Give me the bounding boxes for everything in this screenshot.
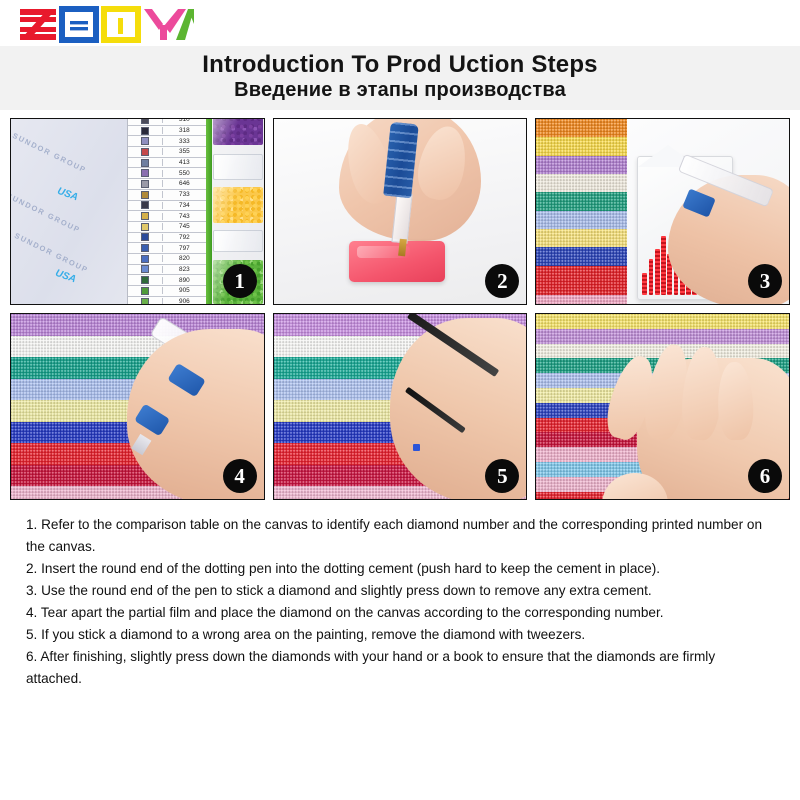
green-divider-strip [206,119,213,304]
symbol-swatch [128,211,162,221]
chart-number: 646 [162,180,205,187]
symbol-swatch [128,222,162,232]
chart-number: 743 [162,213,205,220]
watermark: SUNDOR GROUP [11,131,88,175]
chart-row: 333 [128,136,205,147]
chart-row: 310 [128,119,205,126]
symbol-swatch [128,286,162,296]
symbol-swatch [128,243,162,253]
chart-number: 792 [162,234,205,241]
step-panel-5: 5 [273,313,528,500]
chart-row: 318 [128,126,205,137]
step-panel-3: 3 [535,118,790,305]
striped-diamond-canvas [536,119,627,304]
step-badge-3: 3 [748,264,782,298]
zooya-logo [18,6,800,44]
dotting-cement-pad [349,241,445,282]
symbol-swatch [128,136,162,146]
symbol-swatch [128,265,162,275]
dotting-pen-metal-tip [398,239,406,256]
bead-bag-purple [213,119,262,145]
chart-row: 820 [128,254,205,265]
chart-number: 745 [162,223,205,230]
chart-row: 797 [128,243,205,254]
watermark: SUNDOR GROUP [13,231,90,275]
symbol-swatch [128,168,162,178]
instruction-step-5: 5. If you stick a diamond to a wrong are… [26,624,774,646]
step-panel-1: SUNDOR GROUP SUNDOR GROUP SUNDOR GROUP U… [10,118,265,305]
chart-number: 310 [162,119,205,123]
chart-number: 550 [162,170,205,177]
canvas-paper: SUNDOR GROUP SUNDOR GROUP SUNDOR GROUP U… [11,119,127,304]
chart-row: 743 [128,211,205,222]
zooya-logo-svg [18,6,194,44]
logo-letter-o-blue [62,9,96,40]
bead-bag-yellow [213,187,262,222]
chart-number: 355 [162,148,205,155]
chart-number: 413 [162,159,205,166]
symbol-swatch [128,254,162,264]
usa-mark: USA [54,268,78,286]
logo-bar [0,0,800,46]
step-panel-6: 6 [535,313,790,500]
steps-grid: SUNDOR GROUP SUNDOR GROUP SUNDOR GROUP U… [10,118,790,500]
instruction-step-4: 4. Tear apart the partial film and place… [26,602,774,624]
picked-diamond [413,444,421,451]
symbol-swatch [128,201,162,211]
chart-row: 905 [128,286,205,297]
logo-letter-o-yellow [104,9,138,40]
symbol-swatch [128,297,162,304]
chart-number: 333 [162,138,205,145]
step-badge-4: 4 [223,459,257,493]
chart-number: 734 [162,202,205,209]
symbol-swatch [128,190,162,200]
chart-number: 820 [162,255,205,262]
chart-row: 646 [128,179,205,190]
instructions-list: 1. Refer to the comparison table on the … [26,514,774,690]
symbol-swatch [128,158,162,168]
step-panel-2: 2 [273,118,528,305]
symbol-swatch [128,147,162,157]
chart-number: 733 [162,191,205,198]
chart-row: 906 [128,297,205,304]
symbol-swatch [128,119,162,125]
page-header: Introduction To Prod Uction Steps Введен… [0,46,800,110]
chart-number: 890 [162,277,205,284]
chart-number: 905 [162,287,205,294]
instruction-step-6: 6. After finishing, slightly press down … [26,646,774,690]
chart-number: 318 [162,127,205,134]
chart-row: 745 [128,222,205,233]
symbol-swatch [128,126,162,136]
bead-bag-empty [213,154,262,180]
chart-row: 823 [128,265,205,276]
logo-letter-z [20,9,56,40]
chart-number: 797 [162,245,205,252]
chart-row: 792 [128,233,205,244]
instruction-step-3: 3. Use the round end of the pen to stick… [26,580,774,602]
step-panel-4: 4 [10,313,265,500]
symbol-swatch [128,233,162,243]
chart-number: 906 [162,298,205,304]
bead-bag-empty [213,230,262,252]
chart-row: 355 [128,147,205,158]
chart-row: 734 [128,201,205,212]
instruction-step-1: 1. Refer to the comparison table on the … [26,514,774,558]
chart-row: 413 [128,158,205,169]
symbol-swatch [128,179,162,189]
page-title-en: Introduction To Prod Uction Steps [202,52,597,79]
chart-number: 823 [162,266,205,273]
instruction-step-2: 2. Insert the round end of the dotting p… [26,558,774,580]
chart-row: 550 [128,168,205,179]
symbol-swatch [128,275,162,285]
step-badge-6: 6 [748,459,782,493]
chart-row: 733 [128,190,205,201]
chart-row: 890 [128,275,205,286]
diamond-color-chart: 310 318 333 355 413 550 646 733 734 743 … [127,119,205,304]
step-badge-1: 1 [223,264,257,298]
page-title-ru: Введение в этапы производства [234,79,566,102]
usa-mark: USA [56,186,80,204]
